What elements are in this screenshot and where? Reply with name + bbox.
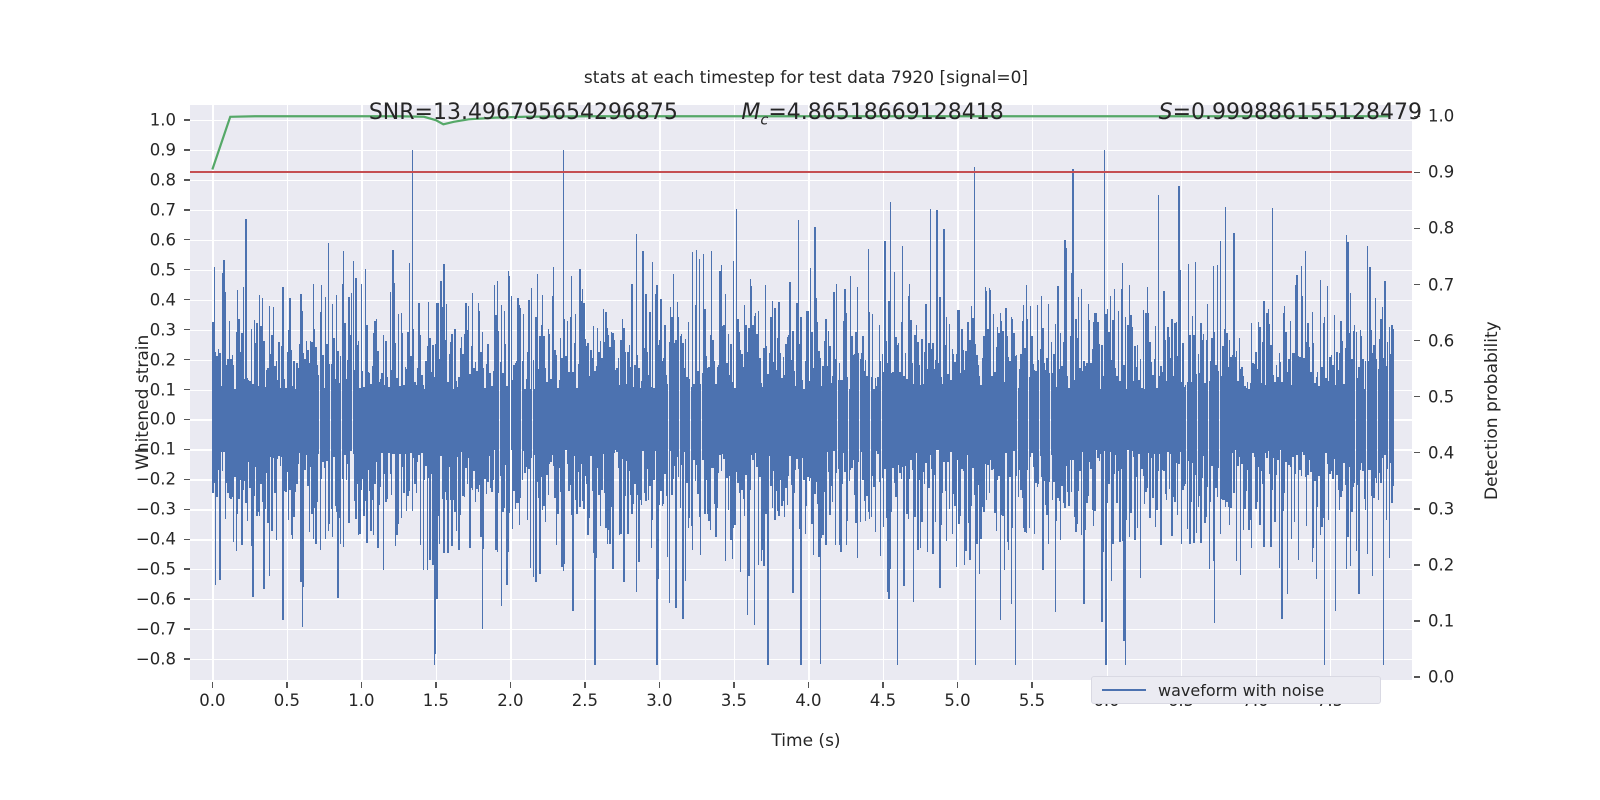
xtick-mark-8 xyxy=(808,682,809,688)
ytick-mark-left-4 xyxy=(184,239,190,240)
annotation-symbol: M xyxy=(741,100,760,125)
legend-swatch-waveform xyxy=(1102,689,1146,691)
ytick-label-right-7: 0.3 xyxy=(1428,499,1454,518)
ytick-mark-left-1 xyxy=(184,149,190,150)
ytick-label-left-4: 0.6 xyxy=(130,230,176,249)
ytick-label-left-9: 0.1 xyxy=(130,380,176,399)
xtick-mark-10 xyxy=(957,682,958,688)
ytick-mark-right-1 xyxy=(1414,172,1420,173)
ytick-label-right-6: 0.4 xyxy=(1428,443,1454,462)
ytick-label-left-6: 0.4 xyxy=(130,290,176,309)
ytick-mark-left-2 xyxy=(184,179,190,180)
xtick-mark-11 xyxy=(1031,682,1032,688)
ytick-mark-left-16 xyxy=(184,598,190,599)
xtick-mark-4 xyxy=(510,682,511,688)
annotation-detection-statistic: S=0.999886155128479 xyxy=(1159,100,1422,125)
ytick-mark-left-11 xyxy=(184,449,190,450)
xtick-label-4: 2.0 xyxy=(497,691,523,710)
ytick-mark-right-9 xyxy=(1414,620,1420,621)
xtick-label-3: 1.5 xyxy=(423,691,449,710)
ytick-label-left-17: −0.7 xyxy=(130,620,176,639)
annotation-value: =4.86518669128418 xyxy=(768,100,1003,125)
ytick-mark-right-7 xyxy=(1414,508,1420,509)
xtick-label-9: 4.5 xyxy=(870,691,896,710)
annotation-chirp-mass: Mc=4.86518669128418 xyxy=(741,100,1003,128)
threshold-line xyxy=(190,171,1412,173)
ytick-label-left-10: 0.0 xyxy=(130,410,176,429)
ytick-label-left-11: −0.1 xyxy=(130,440,176,459)
ytick-label-left-18: −0.8 xyxy=(130,650,176,669)
xtick-label-11: 5.5 xyxy=(1019,691,1045,710)
annotation-symbol: SNR xyxy=(369,100,415,125)
ytick-label-right-0: 1.0 xyxy=(1428,107,1454,126)
xtick-label-7: 3.5 xyxy=(721,691,747,710)
annotation-symbol: S xyxy=(1159,100,1173,125)
ytick-mark-left-3 xyxy=(184,209,190,210)
ytick-mark-left-14 xyxy=(184,539,190,540)
ytick-mark-left-12 xyxy=(184,479,190,480)
ytick-mark-left-15 xyxy=(184,568,190,569)
xtick-mark-9 xyxy=(882,682,883,688)
ytick-mark-right-6 xyxy=(1414,452,1420,453)
legend-label-waveform: waveform with noise xyxy=(1158,681,1324,700)
x-axis-label: Time (s) xyxy=(771,731,840,751)
y-axis-label-right: Detection probability xyxy=(1482,321,1502,500)
ytick-mark-left-17 xyxy=(184,628,190,629)
ytick-mark-right-4 xyxy=(1414,340,1420,341)
ytick-label-right-3: 0.7 xyxy=(1428,275,1454,294)
ytick-mark-left-6 xyxy=(184,299,190,300)
ytick-mark-left-0 xyxy=(184,119,190,120)
xtick-label-2: 1.0 xyxy=(348,691,374,710)
ytick-label-left-7: 0.3 xyxy=(130,320,176,339)
ytick-mark-left-18 xyxy=(184,658,190,659)
ytick-label-right-2: 0.8 xyxy=(1428,219,1454,238)
ytick-label-right-5: 0.5 xyxy=(1428,387,1454,406)
plot-area xyxy=(190,105,1412,680)
ytick-label-left-16: −0.6 xyxy=(130,590,176,609)
ytick-mark-left-7 xyxy=(184,329,190,330)
ytick-label-left-8: 0.2 xyxy=(130,350,176,369)
xtick-label-5: 2.5 xyxy=(572,691,598,710)
xtick-mark-6 xyxy=(659,682,660,688)
xtick-mark-1 xyxy=(286,682,287,688)
xtick-label-0: 0.0 xyxy=(199,691,225,710)
xtick-mark-3 xyxy=(435,682,436,688)
legend[interactable]: waveform with noise xyxy=(1091,676,1381,704)
ytick-label-right-10: 0.0 xyxy=(1428,668,1454,687)
ytick-label-left-13: −0.3 xyxy=(130,500,176,519)
ytick-mark-right-10 xyxy=(1414,676,1420,677)
xtick-label-6: 3.0 xyxy=(646,691,672,710)
annotation-value: =13.496795654296875 xyxy=(415,100,678,125)
ytick-label-right-4: 0.6 xyxy=(1428,331,1454,350)
ytick-label-left-12: −0.2 xyxy=(130,470,176,489)
chart-title: stats at each timestep for test data 792… xyxy=(584,68,1028,88)
xtick-mark-0 xyxy=(212,682,213,688)
ytick-mark-right-2 xyxy=(1414,228,1420,229)
ytick-label-left-5: 0.5 xyxy=(130,260,176,279)
figure-canvas: stats at each timestep for test data 792… xyxy=(0,0,1600,800)
ytick-label-right-1: 0.9 xyxy=(1428,163,1454,182)
ytick-label-left-0: 1.0 xyxy=(130,110,176,129)
annotation-snr: SNR=13.496795654296875 xyxy=(369,100,678,125)
ytick-mark-left-8 xyxy=(184,359,190,360)
detection-probability-series xyxy=(190,105,1412,680)
xtick-label-8: 4.0 xyxy=(795,691,821,710)
ytick-label-right-9: 0.1 xyxy=(1428,612,1454,631)
ytick-mark-right-8 xyxy=(1414,564,1420,565)
ytick-label-left-14: −0.4 xyxy=(130,530,176,549)
xtick-mark-2 xyxy=(361,682,362,688)
annotation-value: =0.999886155128479 xyxy=(1173,100,1422,125)
xtick-mark-7 xyxy=(733,682,734,688)
ytick-label-left-2: 0.8 xyxy=(130,170,176,189)
ytick-label-left-3: 0.7 xyxy=(130,200,176,219)
ytick-mark-right-5 xyxy=(1414,396,1420,397)
ytick-mark-left-5 xyxy=(184,269,190,270)
ytick-label-right-8: 0.2 xyxy=(1428,556,1454,575)
ytick-mark-left-13 xyxy=(184,509,190,510)
ytick-label-left-15: −0.5 xyxy=(130,560,176,579)
ytick-label-left-1: 0.9 xyxy=(130,140,176,159)
xtick-label-10: 5.0 xyxy=(944,691,970,710)
xtick-label-1: 0.5 xyxy=(274,691,300,710)
ytick-mark-left-9 xyxy=(184,389,190,390)
ytick-mark-left-10 xyxy=(184,419,190,420)
ytick-mark-right-3 xyxy=(1414,284,1420,285)
xtick-mark-5 xyxy=(584,682,585,688)
